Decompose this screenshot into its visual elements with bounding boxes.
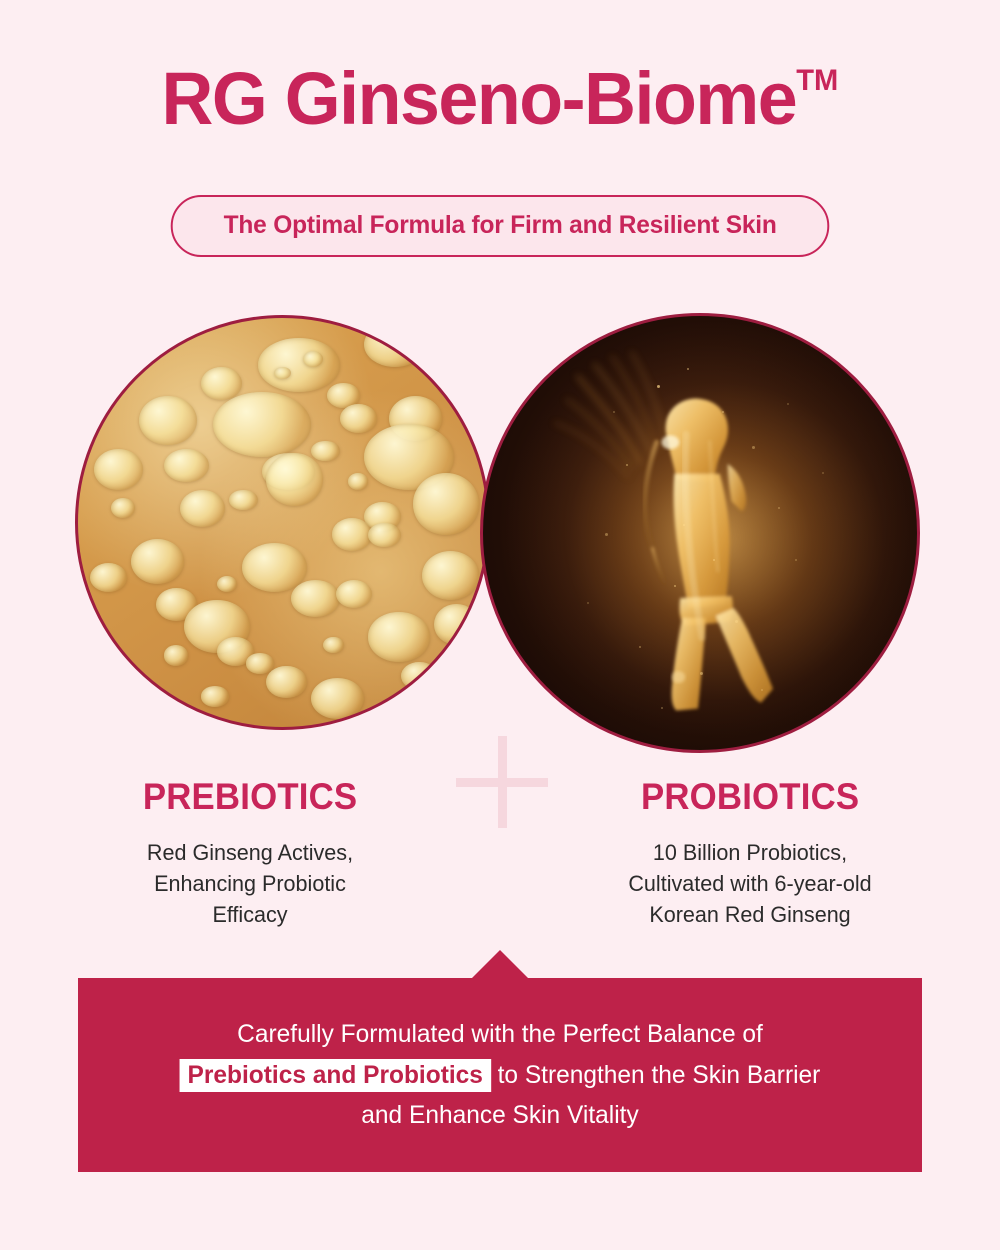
probiotics-description-line: 10 Billion Probiotics, [574, 837, 927, 868]
prebiotics-description: Red Ginseng Actives, Enhancing Probiotic… [5, 837, 495, 931]
column-probiotics: PROBIOTICS 10 Billion Probiotics, Cultiv… [500, 778, 1000, 931]
probiotics-description: 10 Billion Probiotics, Cultivated with 6… [505, 837, 995, 931]
summary-banner: Carefully Formulated with the Perfect Ba… [78, 978, 922, 1172]
prebiotics-heading: PREBIOTICS [143, 778, 357, 817]
trademark-symbol: TM [796, 64, 838, 97]
product-name: RG Ginseno-BiomeTM [162, 62, 839, 136]
ingredient-images [0, 313, 1000, 743]
subtitle-pill: The Optimal Formula for Firm and Resilie… [171, 195, 830, 257]
plus-vertical-bar [498, 736, 507, 828]
ginseng-root-graphic [483, 316, 917, 750]
prebiotics-description-line: Red Ginseng Actives, [113, 837, 387, 868]
plus-icon [456, 736, 548, 828]
probiotics-heading: PROBIOTICS [641, 778, 859, 817]
banner-text: Carefully Formulated with the Perfect Ba… [86, 978, 913, 1172]
prebiotics-description-line: Enhancing Probiotic [113, 868, 387, 899]
banner-highlight: Prebiotics and Probiotics [180, 1059, 491, 1092]
banner-line-2: Prebiotics and Probiotics to Strengthen … [180, 1055, 821, 1096]
banner-line-2-rest: to Strengthen the Skin Barrier [491, 1061, 821, 1089]
banner-line-3: and Enhance Skin Vitality [361, 1095, 638, 1136]
probiotics-description-line: Cultivated with 6-year-old [574, 868, 927, 899]
subtitle-container: The Optimal Formula for Firm and Resilie… [0, 195, 1000, 257]
product-infographic: RG Ginseno-BiomeTM The Optimal Formula f… [0, 0, 1000, 1250]
prebiotics-description-line: Efficacy [113, 899, 387, 930]
page-title: RG Ginseno-BiomeTM [0, 62, 1000, 136]
column-prebiotics: PREBIOTICS Red Ginseng Actives, Enhancin… [0, 778, 500, 931]
banner-line-1: Carefully Formulated with the Perfect Ba… [237, 1014, 763, 1055]
product-name-text: RG Ginseno-Biome [162, 57, 797, 140]
probiotics-description-line: Korean Red Ginseng [574, 899, 927, 930]
banner-notch-triangle [472, 950, 528, 978]
probiotic-image-circle [480, 313, 920, 753]
prebiotic-image-circle [75, 315, 490, 730]
